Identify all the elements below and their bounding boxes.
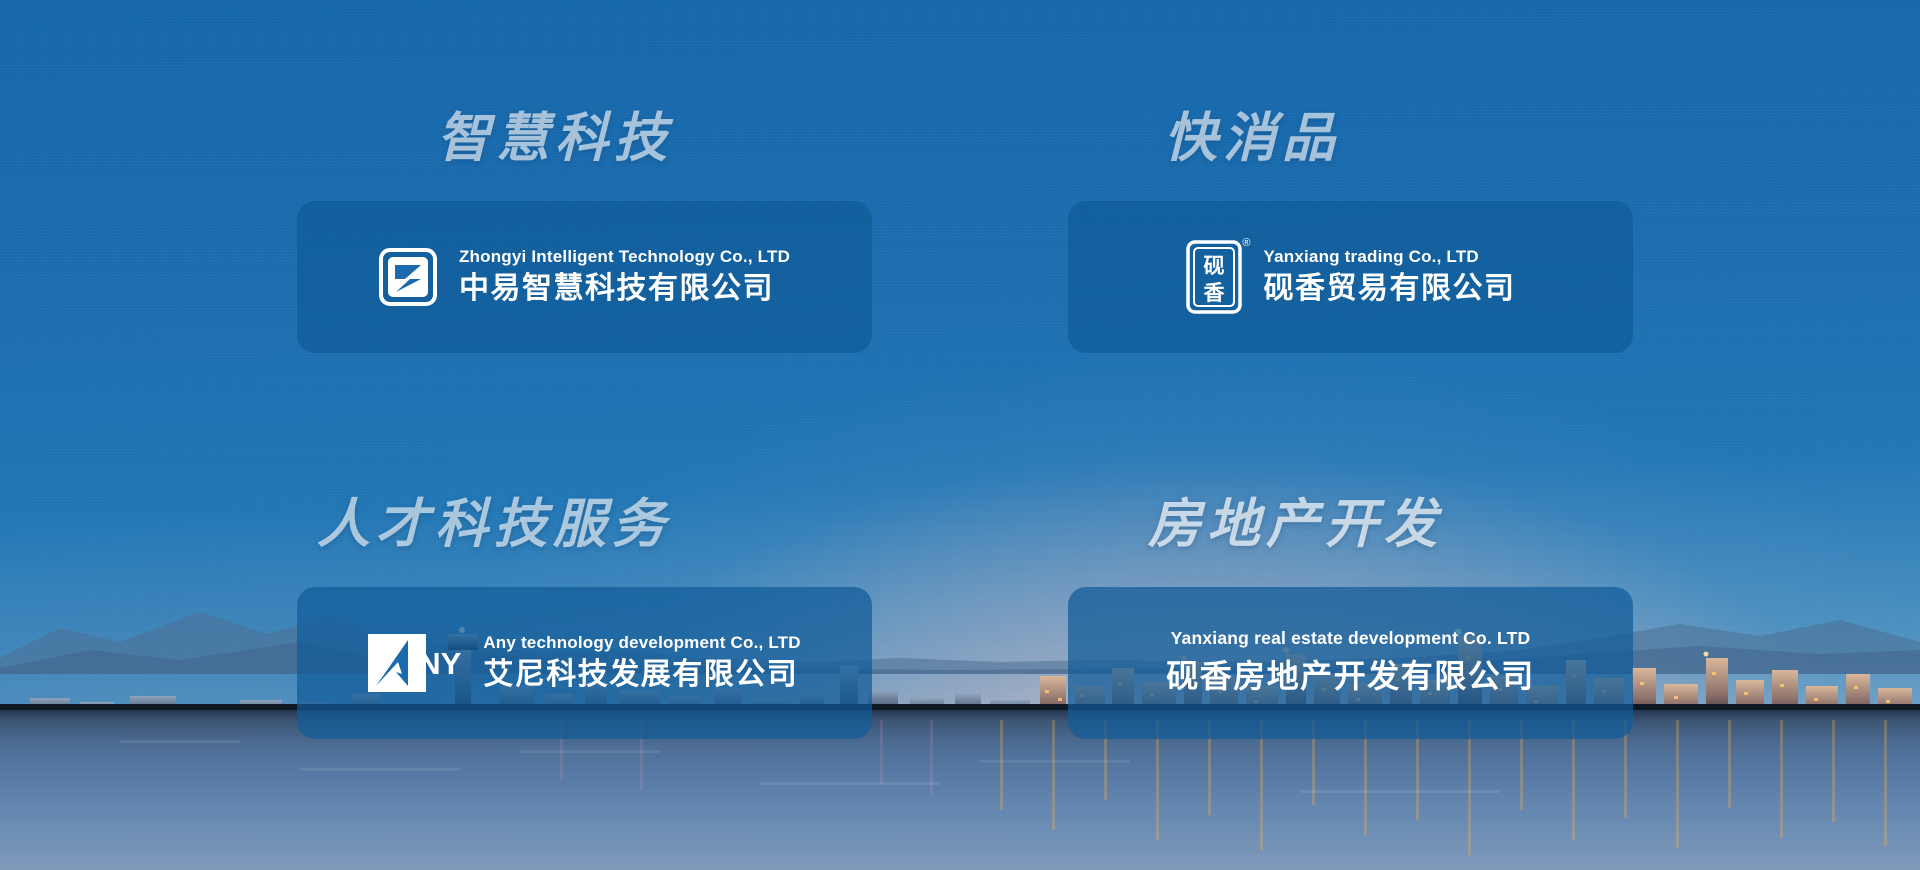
company-texts: Yanxiang real estate development Co. LTD… — [1166, 628, 1535, 697]
section-fmcg: 快消品 砚 香 ® Yanxiang trading Co., LTD 砚香贸易… — [1068, 112, 1633, 353]
section-title-real-estate: 房地产开发 — [1068, 498, 1633, 551]
section-talent-services: 人才科技服务 NY Any technology development Co.… — [297, 498, 872, 739]
company-name-cn: 砚香房地产开发有限公司 — [1166, 656, 1535, 698]
company-card-any-technology[interactable]: NY Any technology development Co., LTD 艾… — [297, 587, 872, 739]
company-card-yanxiang-real-estate[interactable]: Yanxiang real estate development Co. LTD… — [1068, 587, 1633, 739]
registered-trademark-icon: ® — [1242, 238, 1250, 249]
section-title-talent-services: 人才科技服务 — [297, 498, 872, 551]
company-name-cn: 砚香贸易有限公司 — [1264, 269, 1516, 308]
section-title-fmcg: 快消品 — [1068, 112, 1633, 165]
company-card-zhongyi[interactable]: Zhongyi Intelligent Technology Co., LTD … — [297, 201, 872, 353]
company-name-en: Any technology development Co., LTD — [483, 632, 800, 653]
section-smart-technology: 智慧科技 Zhongyi Intelligent Technology Co.,… — [297, 112, 872, 353]
company-texts: Any technology development Co., LTD 艾尼科技… — [483, 632, 800, 694]
company-name-en: Zhongyi Intelligent Technology Co., LTD — [459, 246, 790, 267]
zhongyi-z-logo-icon — [379, 248, 437, 306]
company-name-en: Yanxiang trading Co., LTD — [1264, 246, 1516, 267]
company-card-yanxiang-trading[interactable]: 砚 香 ® Yanxiang trading Co., LTD 砚香贸易有限公司 — [1068, 201, 1633, 353]
company-texts: Yanxiang trading Co., LTD 砚香贸易有限公司 — [1264, 246, 1516, 308]
company-name-cn: 艾尼科技发展有限公司 — [483, 655, 800, 694]
company-texts: Zhongyi Intelligent Technology Co., LTD … — [459, 246, 790, 308]
yanxiang-seal-logo-icon: 砚 香 ® — [1186, 240, 1242, 314]
any-logo-text: NY — [418, 648, 461, 679]
company-name-en: Yanxiang real estate development Co. LTD — [1171, 628, 1531, 650]
company-name-cn: 中易智慧科技有限公司 — [459, 269, 790, 308]
section-real-estate: 房地产开发 Yanxiang real estate development C… — [1068, 498, 1633, 739]
seal-char-bottom: 香 — [1203, 281, 1225, 305]
seal-char-top: 砚 — [1203, 254, 1224, 278]
sections-grid: 智慧科技 Zhongyi Intelligent Technology Co.,… — [0, 0, 1920, 870]
any-mountain-logo-icon: NY — [368, 634, 461, 692]
section-title-smart-technology: 智慧科技 — [297, 112, 872, 165]
